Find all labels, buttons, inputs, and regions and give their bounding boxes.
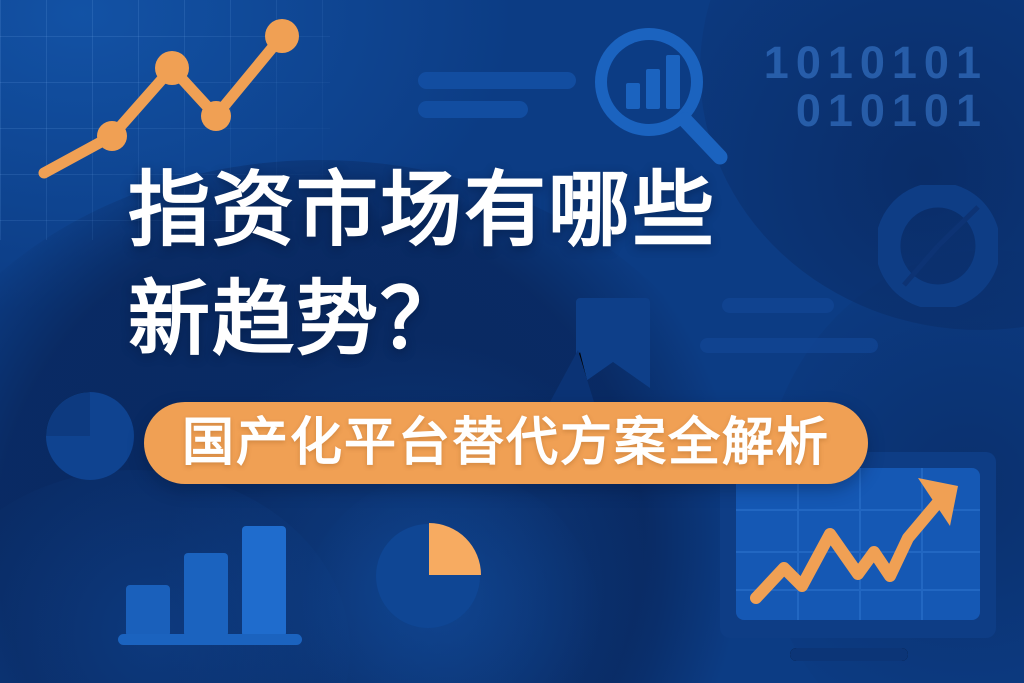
subtitle-badge-label: 国产化平台替代方案全解析 xyxy=(182,417,830,469)
pie-chart-faint-icon xyxy=(44,390,136,482)
binary-text-row-2: 010101 xyxy=(796,88,988,133)
magnifier-bar-chart-icon xyxy=(590,25,735,175)
binary-text-row-1: 1010101 xyxy=(764,40,988,85)
rounded-bar-icon-2 xyxy=(418,101,528,118)
banner-canvas: 1010101 010101 xyxy=(0,0,1024,683)
headline-line-1: 指资市场有哪些 xyxy=(128,156,898,265)
subtitle-badge[interactable]: 国产化平台替代方案全解析 xyxy=(144,402,868,484)
quarter-pie-chart-icon xyxy=(372,518,484,630)
headline-line-2: 新趋势？ xyxy=(128,265,898,374)
rounded-bar-icon-1 xyxy=(418,72,576,89)
ascending-bar-chart-icon xyxy=(118,518,318,648)
page-title: 指资市场有哪些 新趋势？ xyxy=(128,156,898,374)
laptop-trend-chart-icon xyxy=(712,452,1012,677)
